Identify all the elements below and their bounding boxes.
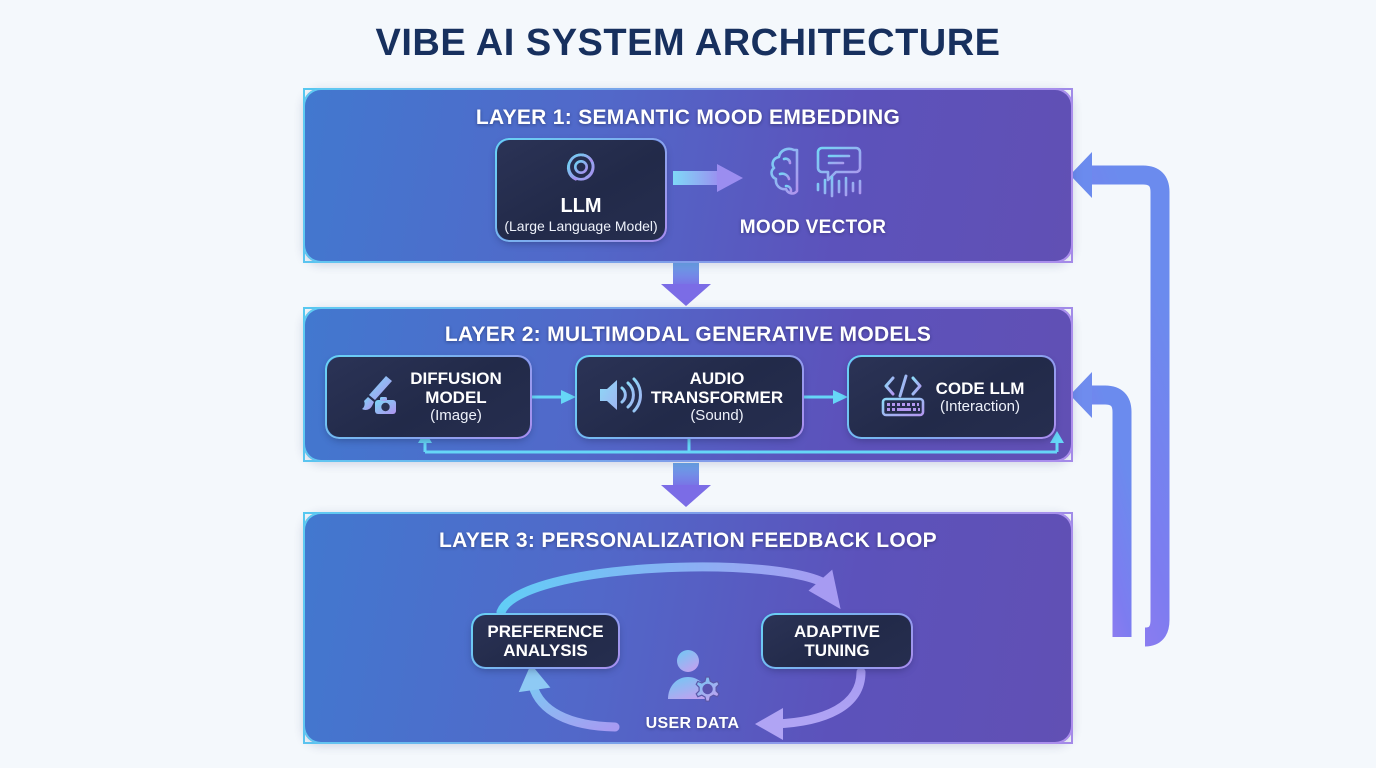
node-adaptive-tuning[interactable]: ADAPTIVE TUNING: [763, 615, 911, 667]
label-mood-vector: MOOD VECTOR: [713, 142, 913, 242]
node-preference-title-1: PREFERENCE: [487, 622, 603, 641]
loop-arc-right: [775, 672, 861, 724]
loop-arrowhead-adaptive: [809, 565, 856, 609]
node-audio-subtitle: (Sound): [690, 407, 743, 424]
arrow-llm-to-mood: [305, 90, 1075, 265]
node-adaptive-title-2: TUNING: [804, 641, 869, 660]
mood-vector-label: MOOD VECTOR: [740, 217, 887, 239]
paintbrush-camera-icon: [355, 372, 401, 423]
arrow-audio-code: [833, 390, 848, 404]
node-audio-title-2: TRANSFORMER: [651, 388, 783, 407]
page-title: VIBE AI SYSTEM ARCHITECTURE: [0, 22, 1376, 65]
diagram-canvas: VIBE AI SYSTEM ARCHITECTURE: [0, 0, 1376, 768]
user-gear-icon: [662, 646, 724, 713]
node-audio-title-1: AUDIO: [690, 369, 745, 388]
node-adaptive-title-1: ADAPTIVE: [794, 622, 880, 641]
feedback-riser-layer2: [1092, 395, 1122, 637]
node-diffusion-subtitle: (Image): [430, 407, 482, 424]
loop-arc-top: [501, 567, 829, 612]
node-preference-title-2: ANALYSIS: [503, 641, 587, 660]
arrow-layer2-to-layer3: [661, 463, 711, 507]
node-diffusion-model[interactable]: DIFFUSION MODEL (Image): [327, 357, 530, 437]
layer-panel-2: LAYER 2: MULTIMODAL GENERATIVE MODELS: [303, 307, 1073, 462]
node-diffusion-title-1: DIFFUSION: [410, 369, 502, 388]
arrow-bus-to-code: [1050, 431, 1064, 443]
node-preference-analysis[interactable]: PREFERENCE ANALYSIS: [473, 615, 618, 667]
node-code-subtitle: (Interaction): [940, 398, 1020, 415]
arrow-diffusion-audio: [561, 390, 576, 404]
node-audio-transformer[interactable]: AUDIO TRANSFORMER (Sound): [577, 357, 802, 437]
node-code-title: CODE LLM: [936, 379, 1025, 398]
node-code-llm[interactable]: CODE LLM (Interaction): [849, 357, 1054, 437]
layer-panel-3: LAYER 3: PERSONALIZATION FEEDBACK LOOP: [303, 512, 1073, 744]
arrow-layer1-to-layer2: [661, 262, 711, 306]
node-diffusion-title-2: MODEL: [425, 388, 486, 407]
loop-arc-left: [533, 686, 615, 727]
code-keyboard-icon: [879, 372, 927, 423]
brain-chat-waveform-icon: [760, 142, 866, 209]
layer-panel-1: LAYER 1: SEMANTIC MOOD EMBEDDING: [303, 88, 1073, 263]
label-user-data: USER DATA: [630, 646, 755, 736]
speaker-waves-icon: [596, 374, 642, 421]
feedback-riser-layer1: [1092, 175, 1160, 637]
loop-arrowhead-userdata: [755, 708, 783, 740]
user-data-label: USER DATA: [646, 715, 740, 733]
